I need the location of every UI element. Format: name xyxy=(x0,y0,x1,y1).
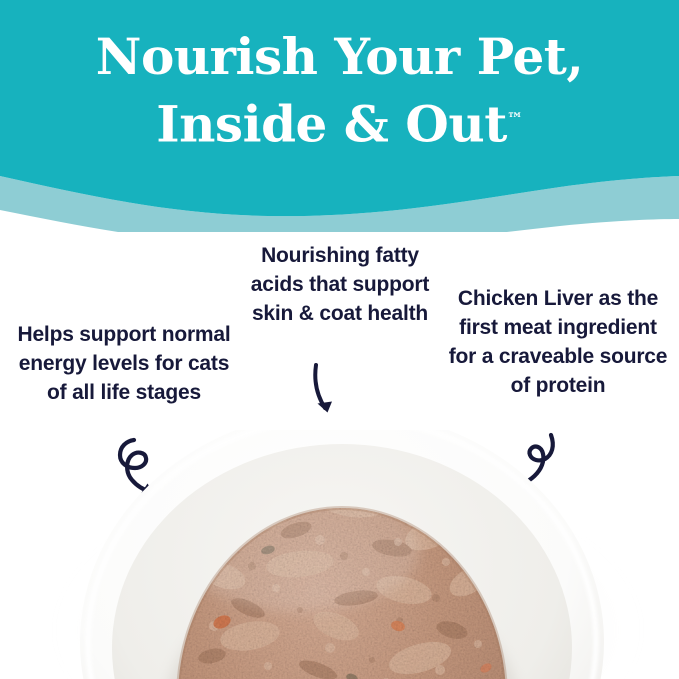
promo-graphic: Nourish Your Pet, Inside & Out™ Helps su… xyxy=(0,0,679,679)
callout-text-chicken-liver: Chicken Liver as the first meat ingredie… xyxy=(447,284,669,400)
headline-line-2-wrap: Inside & Out™ xyxy=(0,88,679,156)
product-photo xyxy=(0,430,679,679)
trademark-icon: ™ xyxy=(507,109,523,128)
curved-arrow-down-icon xyxy=(306,362,346,420)
headline-line-2: Inside & Out xyxy=(156,95,507,154)
page-title: Nourish Your Pet, Inside & Out™ xyxy=(0,26,679,156)
headline-line-1: Nourish Your Pet, xyxy=(96,27,584,86)
callout-text-fatty-acids: Nourishing fatty acids that support skin… xyxy=(232,241,448,328)
bowl-with-pate-illustration xyxy=(0,430,679,679)
header-banner: Nourish Your Pet, Inside & Out™ xyxy=(0,0,679,232)
callout-text-energy: Helps support normal energy levels for c… xyxy=(14,320,234,407)
